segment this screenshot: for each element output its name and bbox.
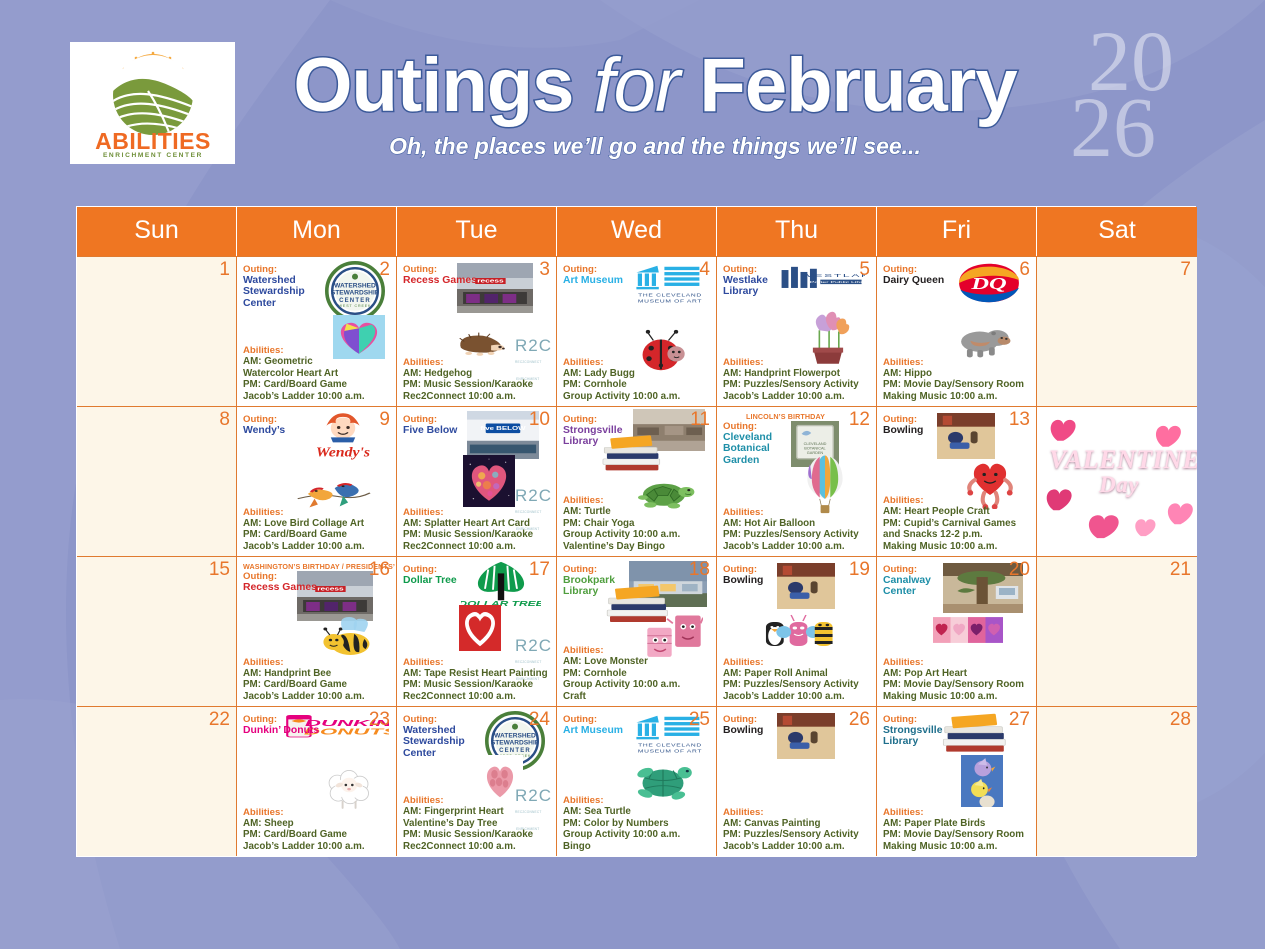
- abilities-activity-line: AM: Tape Resist Heart Painting: [403, 668, 548, 679]
- day-number: 23: [369, 709, 390, 731]
- abilities-activity-line: PM: Card/Board Game: [243, 829, 365, 840]
- outing-name: Art Museum: [563, 725, 641, 736]
- day-header-wed: Wed: [557, 207, 717, 256]
- abilities-block: Abilities:AM: Splatter Heart Art CardPM:…: [403, 507, 533, 552]
- calendar-day-cell-3[interactable]: 3 recess R2CREC2CONNECT ENRICHMENTOuting…: [397, 256, 557, 406]
- calendar-day-cell-18[interactable]: 18 Outing:Br: [557, 556, 717, 706]
- abilities-label: Abilities:: [243, 807, 365, 818]
- abilities-activity-line: AM: Handprint Flowerpot: [723, 368, 859, 379]
- abilities-activity-line: Valentine’s Day Tree: [403, 818, 533, 829]
- outing-label: Outing:: [883, 264, 1030, 275]
- day-number: 11: [690, 409, 710, 431]
- calendar-weeks: 12 WATERSHED STEWARDSHIP CENTER WEST CRE…: [77, 256, 1195, 856]
- day-number: 19: [849, 559, 870, 581]
- year-label: 20 26: [1070, 28, 1210, 160]
- abilities-activity-line: PM: Puzzles/Sensory Activity: [723, 679, 859, 690]
- abilities-block: Abilities:AM: Canvas PaintingPM: Puzzles…: [723, 807, 859, 852]
- outing-block: Outing:Watershed Stewardship Center: [243, 264, 390, 309]
- abilities-activity-line: Watercolor Heart Art: [243, 368, 365, 379]
- abilities-activity-line: Jacob’s Ladder 10:00 a.m.: [723, 691, 859, 702]
- abilities-activity-line: Making Music 10:00 a.m.: [883, 391, 1024, 402]
- calendar-day-cell-10[interactable]: 10 five BELOW R2CREC2CONNECT ENRICHMENTO…: [397, 406, 557, 556]
- abilities-activity-line: and Snacks 12-2 p.m.: [883, 529, 1016, 540]
- abilities-activity-line: PM: Color by Numbers: [563, 818, 680, 829]
- abilities-label: Abilities:: [403, 357, 533, 368]
- abilities-activity-line: Making Music 10:00 a.m.: [883, 541, 1016, 552]
- outing-block: Outing:Westlake Library: [723, 264, 870, 298]
- abilities-block: Abilities:AM: Tape Resist Heart Painting…: [403, 657, 548, 702]
- calendar-day-cell-5[interactable]: 5 WESTLAKE Porter Public Library Outing:…: [717, 256, 877, 406]
- calendar-day-cell-1[interactable]: 1: [77, 256, 237, 406]
- page-title: Outings for February: [245, 45, 1065, 127]
- outing-name: Dollar Tree: [403, 575, 481, 586]
- abilities-activity-line: PM: Movie Day/Sensory Room: [883, 679, 1024, 690]
- abilities-block: Abilities:AM: Pop Art HeartPM: Movie Day…: [883, 657, 1024, 702]
- svg-text:MUSEUM OF ART: MUSEUM OF ART: [638, 299, 702, 304]
- day-number: 2: [379, 259, 390, 281]
- calendar-day-cell-19[interactable]: 19 Outing:BowlingAbilities:AM: Paper Rol…: [717, 556, 877, 706]
- title-outings: Outings: [293, 43, 573, 128]
- abilities-activity-line: PM: Card/Board Game: [243, 379, 365, 390]
- abilities-label: Abilities:: [403, 795, 533, 806]
- abilities-activity-line: Rec2Connect 10:00 a.m.: [403, 841, 533, 852]
- abilities-activity-line: AM: Sea Turtle: [563, 806, 680, 817]
- abilities-label: Abilities:: [563, 645, 680, 656]
- abilities-activity-line: PM: Music Session/Karaoke: [403, 679, 548, 690]
- abilities-activity-line: AM: Hippo: [883, 368, 1024, 379]
- outing-name: Cleveland Botanical Garden: [723, 432, 801, 466]
- abilities-block: Abilities:AM: TurtlePM: Chair YogaGroup …: [563, 495, 680, 552]
- page-subtitle: Oh, the places we’ll go and the things w…: [245, 133, 1065, 160]
- abilities-block: Abilities:AM: HippoPM: Movie Day/Sensory…: [883, 357, 1024, 402]
- calendar-day-cell-7[interactable]: 7: [1037, 256, 1197, 406]
- abilities-activity-line: AM: Turtle: [563, 506, 680, 517]
- outing-name: Recess Games: [243, 582, 321, 593]
- abilities-activity-line: Group Activity 10:00 a.m.: [563, 529, 680, 540]
- abilities-label: Abilities:: [403, 657, 548, 668]
- abilities-block: Abilities:AM: Handprint BeePM: Card/Boar…: [243, 657, 365, 702]
- abilities-activity-line: Jacob’s Ladder 10:00 a.m.: [243, 391, 365, 402]
- day-header-mon: Mon: [237, 207, 397, 256]
- splatter-heart-art-card: [463, 455, 515, 507]
- abilities-activity-line: AM: Paper Roll Animal: [723, 668, 859, 679]
- abilities-block: Abilities:AM: Sea TurtlePM: Color by Num…: [563, 795, 680, 852]
- abilities-activity-line: PM: Music Session/Karaoke: [403, 829, 533, 840]
- abilities-block: Abilities:AM: SheepPM: Card/Board GameJa…: [243, 807, 365, 852]
- calendar-day-cell-20[interactable]: 20 Outing:Canalway CenterAbilities:AM: P: [877, 556, 1037, 706]
- day-header-tue: Tue: [397, 207, 557, 256]
- abilities-block: Abilities:AM: Handprint FlowerpotPM: Puz…: [723, 357, 859, 402]
- valentine-day-label: VALENTINE’SDay: [1049, 447, 1189, 497]
- outing-name: Recess Games: [403, 275, 481, 286]
- year-bottom: 26: [1070, 94, 1210, 160]
- abilities-activity-line: PM: Puzzles/Sensory Activity: [723, 829, 859, 840]
- abilities-activity-line: Jacob’s Ladder 10:00 a.m.: [723, 391, 859, 402]
- abilities-label: Abilities:: [883, 807, 1024, 818]
- calendar-day-cell-9[interactable]: 9 Wendy's Outing:Wendy’sAbilities:AM: Lo…: [237, 406, 397, 556]
- abilities-block: Abilities:AM: Love Bird Collage ArtPM: C…: [243, 507, 365, 552]
- hippo-clipart: [953, 315, 1011, 361]
- abilities-activity-line: PM: Cupid’s Carnival Games: [883, 518, 1016, 529]
- abilities-activity-line: Group Activity 10:00 a.m.: [563, 679, 680, 690]
- outing-name: Brookpark Library: [563, 575, 641, 598]
- abilities-activity-line: AM: Sheep: [243, 818, 365, 829]
- title-for: for: [594, 43, 680, 128]
- abilities-activity-line: Rec2Connect 10:00 a.m.: [403, 391, 533, 402]
- svg-text:THE CLEVELAND: THE CLEVELAND: [638, 743, 702, 748]
- svg-text:MUSEUM OF ART: MUSEUM OF ART: [638, 749, 702, 754]
- outing-label: Outing:: [243, 264, 390, 275]
- day-header-fri: Fri: [877, 207, 1037, 256]
- calendar-day-cell-13[interactable]: 13 Outing:BowlingAbilities:AM: Heart Peo…: [877, 406, 1037, 556]
- abilities-block: Abilities:AM: Paper Roll AnimalPM: Puzzl…: [723, 657, 859, 702]
- day-number: 3: [539, 259, 550, 281]
- day-number: 28: [1170, 709, 1191, 731]
- day-header-thu: Thu: [717, 207, 877, 256]
- abilities-activity-line: PM: Music Session/Karaoke: [403, 379, 533, 390]
- calendar-week-row: 89 Wendy's Outing:Wendy’sAbilities:AM: L…: [77, 406, 1195, 556]
- day-number: 24: [529, 709, 550, 731]
- outing-name: Dairy Queen: [883, 275, 961, 286]
- outing-label: Outing:: [563, 414, 710, 425]
- calendar-day-cell-27[interactable]: 27 Outing:Strongsville LibraryAbilities: [877, 706, 1037, 856]
- outing-label: Outing:: [403, 264, 550, 275]
- calendar-day-cell-15[interactable]: 15: [77, 556, 237, 706]
- outing-name: Westlake Library: [723, 275, 801, 298]
- calendar-day-cell-26[interactable]: 26 Outing:BowlingAbilities:AM: Canvas Pa…: [717, 706, 877, 856]
- outing-label: Outing:: [723, 264, 870, 275]
- day-number: 12: [849, 409, 870, 431]
- abilities-block: Abilities:AM: GeometricWatercolor Heart …: [243, 345, 365, 402]
- abilities-label: Abilities:: [883, 357, 1024, 368]
- abilities-label: Abilities:: [723, 357, 859, 368]
- abilities-activity-line: AM: Handprint Bee: [243, 668, 365, 679]
- abilities-label: Abilities:: [883, 495, 1016, 506]
- calendar-day-cell-8[interactable]: 8: [77, 406, 237, 556]
- day-of-week-header-row: SunMonTueWedThuFriSat: [77, 207, 1195, 256]
- outing-name: Watershed Stewardship Center: [403, 725, 481, 759]
- abilities-label: Abilities:: [883, 657, 1024, 668]
- abilities-activity-line: Jacob’s Ladder 10:00 a.m.: [243, 691, 365, 702]
- abilities-activity-line: AM: Geometric: [243, 356, 365, 367]
- day-header-sun: Sun: [77, 207, 237, 256]
- outing-block: Outing:Wendy’s: [243, 414, 390, 436]
- handprint-bee-craft: [317, 613, 381, 663]
- abilities-block: Abilities:AM: Love MonsterPM: CornholeGr…: [563, 645, 680, 702]
- day-number: 1: [219, 259, 230, 281]
- abilities-activity-line: AM: Fingerprint Heart: [403, 806, 533, 817]
- day-header-sat: Sat: [1037, 207, 1197, 256]
- abilities-label: Abilities:: [243, 507, 365, 518]
- calendar-day-cell-16[interactable]: 16WASHINGTON’S BIRTHDAY / PRESIDENTS’ DA…: [237, 556, 397, 706]
- abilities-logo: ABILITIES ENRICHMENT CENTER: [70, 42, 235, 164]
- abilities-activity-line: PM: Cornhole: [563, 668, 680, 679]
- calendar-week-row: 1516WASHINGTON’S BIRTHDAY / PRESIDENTS’ …: [77, 556, 1195, 706]
- abilities-logo-mark: ABILITIES ENRICHMENT CENTER: [78, 47, 228, 159]
- calendar-day-cell-11[interactable]: 11 Out: [557, 406, 717, 556]
- calendar-day-cell-12[interactable]: 12LINCOLN’S BIRTHDAY CLEVELAND BOTANICAL…: [717, 406, 877, 556]
- day-number: 8: [219, 409, 230, 431]
- day-number: 27: [1009, 709, 1030, 731]
- abilities-activity-line: PM: Music Session/Karaoke: [403, 529, 533, 540]
- calendar-day-cell-6[interactable]: 6 DQ Outing:Dairy QueenAbilities:AM: Hip…: [877, 256, 1037, 406]
- abilities-label: Abilities:: [563, 495, 680, 506]
- calendar-day-cell-2[interactable]: 2 WATERSHED STEWARDSHIP CENTER WEST CREE…: [237, 256, 397, 406]
- day-number: 15: [209, 559, 230, 581]
- outing-name: Art Museum: [563, 275, 641, 286]
- calendar-day-cell-4[interactable]: 4 THE CLEVELAND MUSEUM OF ART Outing:Art…: [557, 256, 717, 406]
- abilities-activity-line: Jacob’s Ladder 10:00 a.m.: [243, 541, 365, 552]
- calendar-day-cell-25[interactable]: 25 THE CLEVELAND MUSEUM OF ART: [557, 706, 717, 856]
- abilities-label: Abilities:: [243, 657, 365, 668]
- abilities-label: Abilities:: [723, 657, 859, 668]
- abilities-activity-line: AM: Love Monster: [563, 656, 680, 667]
- outing-name: Watershed Stewardship Center: [243, 275, 321, 309]
- outing-name: Five Below: [403, 425, 481, 436]
- day-number: 10: [529, 409, 550, 431]
- paper-plate-birds-craft: [961, 755, 1003, 807]
- outing-block: Outing:Dairy Queen: [883, 264, 1030, 286]
- outing-name: Canalway Center: [883, 575, 961, 598]
- abilities-activity-line: PM: Puzzles/Sensory Activity: [723, 529, 859, 540]
- calendar-day-cell-23[interactable]: 23 DUNKIN' DONUTS Outing:Dunkin’ DonutsA…: [237, 706, 397, 856]
- svg-text:Wendy's: Wendy's: [316, 446, 370, 461]
- abilities-label: Abilities:: [243, 345, 365, 356]
- abilities-activity-line: PM: Movie Day/Sensory Room: [883, 379, 1024, 390]
- abilities-activity-line: Bingo: [563, 841, 680, 852]
- abilities-block: Abilities:AM: Paper Plate BirdsPM: Movie…: [883, 807, 1024, 852]
- day-number: 22: [209, 709, 230, 731]
- abilities-activity-line: AM: Paper Plate Birds: [883, 818, 1024, 829]
- abilities-activity-line: AM: Pop Art Heart: [883, 668, 1024, 679]
- outing-name: Bowling: [723, 725, 801, 736]
- abilities-activity-line: Making Music 10:00 a.m.: [883, 841, 1024, 852]
- calendar-day-cell-17[interactable]: 17 DOLLAR TREE R2CREC2CONNECT ENRICHMENT…: [397, 556, 557, 706]
- abilities-block: Abilities:AM: Fingerprint HeartValentine…: [403, 795, 533, 852]
- outing-label: Outing:: [563, 264, 710, 275]
- abilities-activity-line: AM: Heart People Craft: [883, 506, 1016, 517]
- calendar-week-row: 2223 DUNKIN' DONUTS Outing:Dunkin’ Donut…: [77, 706, 1195, 856]
- abilities-activity-line: Craft: [563, 691, 680, 702]
- day-number: 18: [689, 559, 710, 581]
- calendar-day-cell-21[interactable]: 21: [1037, 556, 1197, 706]
- pop-art-heart-craft: [933, 611, 1003, 649]
- abilities-block: Abilities:AM: Heart People CraftPM: Cupi…: [883, 495, 1016, 552]
- day-number: 5: [859, 259, 870, 281]
- outing-block: Outing:Art Museum: [563, 264, 710, 286]
- day-number: 25: [689, 709, 710, 731]
- outing-name: Bowling: [883, 425, 961, 436]
- title-month: February: [699, 43, 1016, 128]
- abilities-activity-line: AM: Hot Air Balloon: [723, 518, 859, 529]
- day-number: 7: [1180, 259, 1191, 281]
- abilities-activity-line: PM: Cornhole: [563, 379, 680, 390]
- title-block: Outings for February Oh, the places we’l…: [245, 45, 1065, 160]
- abilities-activity-line: PM: Puzzles/Sensory Activity: [723, 379, 859, 390]
- day-number: 13: [1009, 409, 1030, 431]
- calendar-day-cell-28[interactable]: 28: [1037, 706, 1197, 856]
- calendar-grid: SunMonTueWedThuFriSat 12 WATERSHED STEWA…: [76, 206, 1196, 857]
- handprint-flowerpot-craft: [801, 303, 855, 365]
- abilities-label: Abilities:: [563, 357, 680, 368]
- calendar-day-cell-22[interactable]: 22: [77, 706, 237, 856]
- abilities-activity-line: Group Activity 10:00 a.m.: [563, 391, 680, 402]
- outing-name: Bowling: [723, 575, 801, 586]
- abilities-block: Abilities:AM: Hot Air BalloonPM: Puzzles…: [723, 507, 859, 552]
- abilities-activity-line: PM: Card/Board Game: [243, 529, 365, 540]
- day-number: 9: [379, 409, 390, 431]
- abilities-activity-line: AM: Canvas Painting: [723, 818, 859, 829]
- day-number: 17: [529, 559, 550, 581]
- day-number: 14: [1170, 409, 1191, 431]
- outing-name: Strongsville Library: [563, 425, 641, 448]
- abilities-activity-line: AM: Hedgehog: [403, 368, 533, 379]
- abilities-activity-line: Rec2Connect 10:00 a.m.: [403, 541, 533, 552]
- outing-name: Wendy’s: [243, 425, 321, 436]
- abilities-activity-line: AM: Splatter Heart Art Card: [403, 518, 533, 529]
- abilities-activity-line: PM: Card/Board Game: [243, 679, 365, 690]
- outing-block: Outing:Strongsville Library: [563, 414, 710, 448]
- day-number: 20: [1009, 559, 1030, 581]
- page-header: ABILITIES ENRICHMENT CENTER Outings for …: [0, 0, 1265, 196]
- tape-resist-heart-painting: [459, 605, 501, 651]
- calendar-day-cell-14[interactable]: HAPPYVALENTINE’SDay14: [1037, 406, 1197, 556]
- abilities-label: Abilities:: [723, 507, 859, 518]
- abilities-activity-line: Jacob’s Ladder 10:00 a.m.: [723, 541, 859, 552]
- calendar-week-row: 12 WATERSHED STEWARDSHIP CENTER WEST CRE…: [77, 256, 1195, 406]
- outing-label: Outing:: [243, 414, 390, 425]
- sheep-clipart: [321, 759, 375, 811]
- abilities-label: Abilities:: [563, 795, 680, 806]
- abilities-block: Abilities:AM: Lady BuggPM: CornholeGroup…: [563, 357, 680, 402]
- abilities-label: Abilities:: [403, 507, 533, 518]
- abilities-block: Abilities:AM: HedgehogPM: Music Session/…: [403, 357, 533, 402]
- valentine-happy-label: HAPPY: [1071, 433, 1124, 445]
- day-number: 16: [369, 559, 390, 581]
- outing-block: Outing:Recess Games: [403, 264, 550, 286]
- abilities-activity-line: PM: Movie Day/Sensory Room: [883, 829, 1024, 840]
- svg-text:ABILITIES: ABILITIES: [95, 128, 211, 154]
- svg-text:ENRICHMENT CENTER: ENRICHMENT CENTER: [102, 152, 202, 159]
- abilities-activity-line: Jacob’s Ladder 10:00 a.m.: [723, 841, 859, 852]
- day-number: 4: [699, 259, 710, 281]
- outing-name: Dunkin’ Donuts: [243, 725, 321, 736]
- abilities-activity-line: AM: Love Bird Collage Art: [243, 518, 365, 529]
- abilities-activity-line: Group Activity 10:00 a.m.: [563, 829, 680, 840]
- abilities-label: Abilities:: [723, 807, 859, 818]
- day-number: 26: [849, 709, 870, 731]
- abilities-activity-line: Jacob’s Ladder 10:00 a.m.: [243, 841, 365, 852]
- svg-text:THE CLEVELAND: THE CLEVELAND: [638, 293, 702, 298]
- abilities-activity-line: Valentine’s Day Bingo: [563, 541, 680, 552]
- paper-roll-animal-craft: [763, 605, 837, 655]
- abilities-activity-line: PM: Chair Yoga: [563, 518, 680, 529]
- day-number: 21: [1170, 559, 1191, 581]
- abilities-activity-line: AM: Lady Bugg: [563, 368, 680, 379]
- abilities-activity-line: Making Music 10:00 a.m.: [883, 691, 1024, 702]
- abilities-activity-line: Rec2Connect 10:00 a.m.: [403, 691, 548, 702]
- outing-name: Strongsville Library: [883, 725, 961, 748]
- day-number: 6: [1019, 259, 1030, 281]
- calendar-day-cell-24[interactable]: 24 WATERSHED STEWARDSHIP CENTER WEST CRE…: [397, 706, 557, 856]
